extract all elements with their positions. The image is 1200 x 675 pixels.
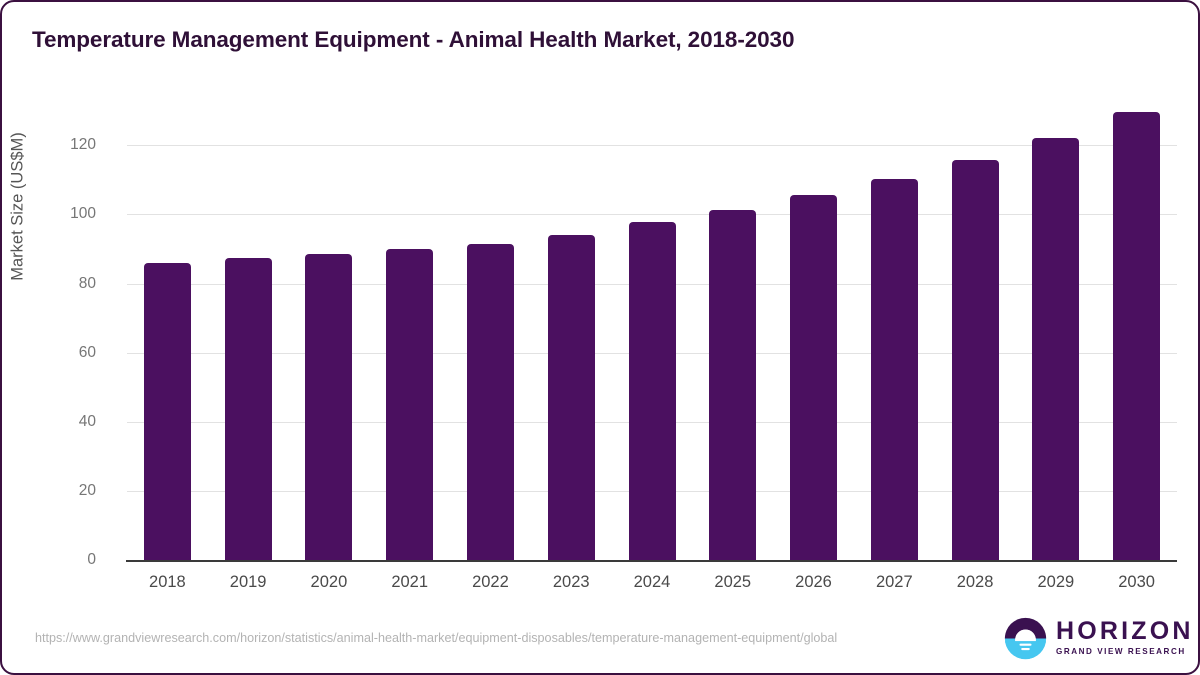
y-axis-tick: 0: [87, 551, 96, 569]
x-axis-tick-2018: 2018: [127, 573, 208, 592]
bar-2021[interactable]: [386, 249, 433, 560]
y-axis-tick: 80: [79, 275, 96, 293]
x-axis-tick-2019: 2019: [208, 573, 289, 592]
logo-tagline: GRAND VIEW RESEARCH: [1056, 648, 1194, 656]
horizon-logo: HORIZON GRAND VIEW RESEARCH: [1004, 614, 1176, 662]
x-axis-line: [126, 560, 1177, 562]
x-axis-tick-2020: 2020: [289, 573, 370, 592]
x-axis-tick-2030: 2030: [1096, 573, 1177, 592]
bar-2027[interactable]: [871, 179, 918, 560]
x-axis-tick-2027: 2027: [854, 573, 935, 592]
y-axis-tick: 40: [79, 413, 96, 431]
y-axis-tick: 100: [70, 205, 96, 223]
bar-2024[interactable]: [629, 222, 676, 560]
x-axis-tick-2028: 2028: [935, 573, 1016, 592]
bar-2019[interactable]: [225, 258, 272, 560]
logo-wordmark: HORIZON: [1056, 619, 1194, 644]
plot-area: 2018201920202021202220232024202520262027…: [127, 97, 1177, 560]
x-axis-tick-2021: 2021: [369, 573, 450, 592]
bar-2020[interactable]: [305, 254, 352, 560]
source-url[interactable]: https://www.grandviewresearch.com/horizo…: [35, 630, 980, 647]
gridline: [127, 214, 1177, 215]
bar-2025[interactable]: [709, 210, 756, 560]
bar-2028[interactable]: [952, 160, 999, 560]
x-axis-tick-2026: 2026: [773, 573, 854, 592]
y-axis-tick: 60: [79, 344, 96, 362]
x-axis-tick-2025: 2025: [692, 573, 773, 592]
chart-card: Temperature Management Equipment - Anima…: [0, 0, 1200, 675]
x-axis-tick-2029: 2029: [1015, 573, 1096, 592]
bar-2018[interactable]: [144, 263, 191, 560]
y-axis-tick: 120: [70, 136, 96, 154]
x-axis-tick-2024: 2024: [612, 573, 693, 592]
bar-2029[interactable]: [1032, 138, 1079, 560]
bar-2030[interactable]: [1113, 112, 1160, 560]
x-axis-tick-2023: 2023: [531, 573, 612, 592]
bar-2026[interactable]: [790, 195, 837, 560]
x-axis-tick-2022: 2022: [450, 573, 531, 592]
y-axis-title: Market Size (US$M): [9, 27, 28, 387]
bar-2023[interactable]: [548, 235, 595, 560]
horizon-logo-text: HORIZON GRAND VIEW RESEARCH: [1056, 619, 1194, 656]
page-title: Temperature Management Equipment - Anima…: [32, 27, 794, 53]
horizon-logo-icon: [1004, 617, 1047, 660]
bar-2022[interactable]: [467, 244, 514, 560]
gridline: [127, 145, 1177, 146]
y-axis-tick: 20: [79, 482, 96, 500]
